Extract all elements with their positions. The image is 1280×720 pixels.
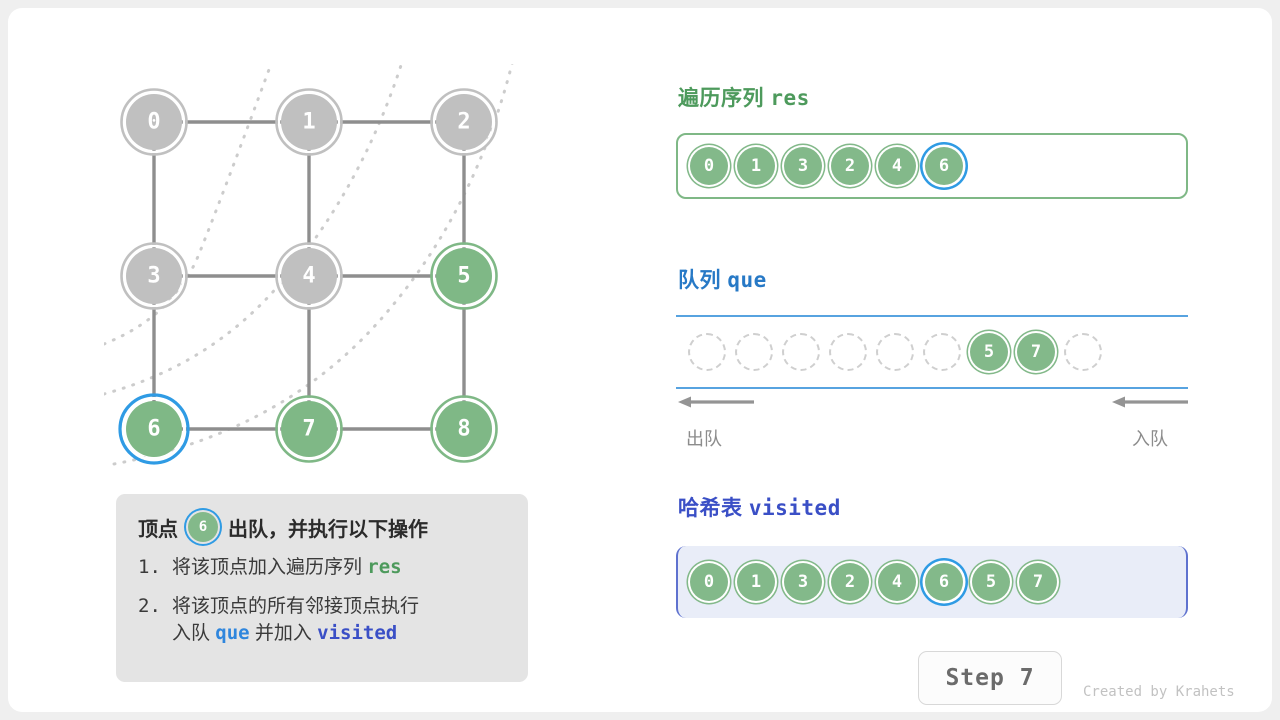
- que-slot-empty: [688, 333, 726, 371]
- graph-node-6[interactable]: 6: [120, 395, 188, 463]
- graph-node-3[interactable]: 3: [122, 244, 187, 309]
- que-slot-empty: [829, 333, 867, 371]
- graph-node-label: 3: [147, 264, 160, 289]
- que-slot-row: 57: [688, 315, 1102, 389]
- page-card: 0 1 2: [8, 8, 1272, 712]
- que-title-cn: 队列: [678, 269, 721, 292]
- graph-node-label: 5: [457, 264, 470, 289]
- que-slot-empty: [735, 333, 773, 371]
- visited-token: 3: [784, 563, 822, 601]
- res-token-row: 013246: [690, 135, 963, 197]
- enqueue-label: 入队: [1132, 425, 1168, 451]
- caption-step-1-num: 1.: [138, 555, 172, 581]
- visited-token: 5: [972, 563, 1010, 601]
- caption-step-1-code: res: [367, 556, 401, 578]
- que-slot-filled: 5: [970, 333, 1008, 371]
- graph-nodes: 0 1 2: [120, 90, 497, 464]
- res-title-cn: 遍历序列: [678, 87, 764, 110]
- caption-box: 顶点 6 出队，并执行以下操作 1. 将该顶点加入遍历序列 res 2. 将该顶…: [116, 494, 528, 682]
- visited-token: 1: [737, 563, 775, 601]
- graph-diagram: 0 1 2: [104, 64, 544, 484]
- graph-node-7[interactable]: 7: [277, 397, 342, 462]
- que-slot-empty: [923, 333, 961, 371]
- caption-headline: 顶点 6 出队，并执行以下操作: [138, 512, 508, 542]
- caption-step-2-cont-num: [138, 621, 172, 647]
- res-token: 6: [925, 147, 963, 185]
- res-container: 013246: [676, 133, 1188, 199]
- dequeue-label: 出队: [686, 425, 722, 451]
- graph-node-label: 4: [302, 264, 315, 289]
- que-slot-empty: [876, 333, 914, 371]
- visited-token-row: 01324657: [690, 546, 1057, 618]
- que-slot-empty: [782, 333, 820, 371]
- visited-container: 01324657: [676, 546, 1188, 618]
- graph-node-8[interactable]: 8: [432, 397, 497, 462]
- graph-svg: 0 1 2: [104, 64, 544, 484]
- visited-title-cn: 哈希表: [678, 497, 743, 520]
- dequeue-arrow-icon: [678, 395, 754, 409]
- caption-head-post: 出队，并执行以下操作: [228, 513, 428, 542]
- que-slot-filled: 7: [1017, 333, 1055, 371]
- caption-step-1-pre: 将该顶点加入遍历序列: [172, 557, 367, 578]
- caption-step-2-cont-code2: visited: [317, 622, 397, 644]
- caption-step-2-cont-pre: 入队: [172, 623, 215, 644]
- res-token: 3: [784, 147, 822, 185]
- caption-node-token: 6: [188, 512, 218, 542]
- caption-step-2-num: 2.: [138, 594, 172, 620]
- caption-step-2-cont-code1: que: [215, 622, 249, 644]
- credit-text: Created by Krahets: [1083, 684, 1235, 700]
- graph-node-label: 7: [302, 417, 315, 442]
- graph-node-0[interactable]: 0: [122, 90, 187, 155]
- caption-step-1: 1. 将该顶点加入遍历序列 res: [138, 555, 508, 581]
- graph-node-2[interactable]: 2: [432, 90, 497, 155]
- res-token: 1: [737, 147, 775, 185]
- graph-node-label: 2: [457, 110, 470, 135]
- graph-node-5[interactable]: 5: [432, 244, 497, 309]
- visited-section-title: 哈希表 visited: [678, 492, 841, 522]
- res-section-title: 遍历序列 res: [678, 82, 810, 112]
- caption-step-2-cont-text: 入队 que 并加入 visited: [172, 621, 508, 647]
- step-badge: Step 7: [918, 651, 1062, 705]
- res-token: 4: [878, 147, 916, 185]
- caption-step-2-cont-mid: 并加入: [250, 623, 318, 644]
- graph-node-label: 1: [302, 110, 315, 135]
- que-slot-empty: [1064, 333, 1102, 371]
- visited-token: 6: [925, 563, 963, 601]
- caption-step-2: 2. 将该顶点的所有邻接顶点执行: [138, 594, 508, 620]
- caption-head-pre: 顶点: [138, 513, 178, 542]
- caption-step-2-text: 将该顶点的所有邻接顶点执行: [172, 594, 508, 620]
- visited-token: 7: [1019, 563, 1057, 601]
- visited-title-code: visited: [749, 496, 841, 520]
- visited-token: 2: [831, 563, 869, 601]
- graph-node-label: 8: [457, 417, 470, 442]
- caption-step-2-cont: 入队 que 并加入 visited: [138, 621, 508, 647]
- graph-node-label: 6: [147, 417, 160, 442]
- res-token: 0: [690, 147, 728, 185]
- graph-node-label: 0: [147, 110, 160, 135]
- caption-step-1-text: 将该顶点加入遍历序列 res: [172, 555, 508, 581]
- graph-node-4[interactable]: 4: [277, 244, 342, 309]
- graph-node-1[interactable]: 1: [277, 90, 342, 155]
- res-token: 2: [831, 147, 869, 185]
- que-section-title: 队列 que: [678, 264, 767, 294]
- res-title-code: res: [770, 86, 809, 110]
- visited-token: 0: [690, 563, 728, 601]
- visited-token: 4: [878, 563, 916, 601]
- enqueue-arrow-icon: [1112, 395, 1188, 409]
- que-container: 57: [676, 315, 1188, 389]
- que-title-code: que: [727, 268, 766, 292]
